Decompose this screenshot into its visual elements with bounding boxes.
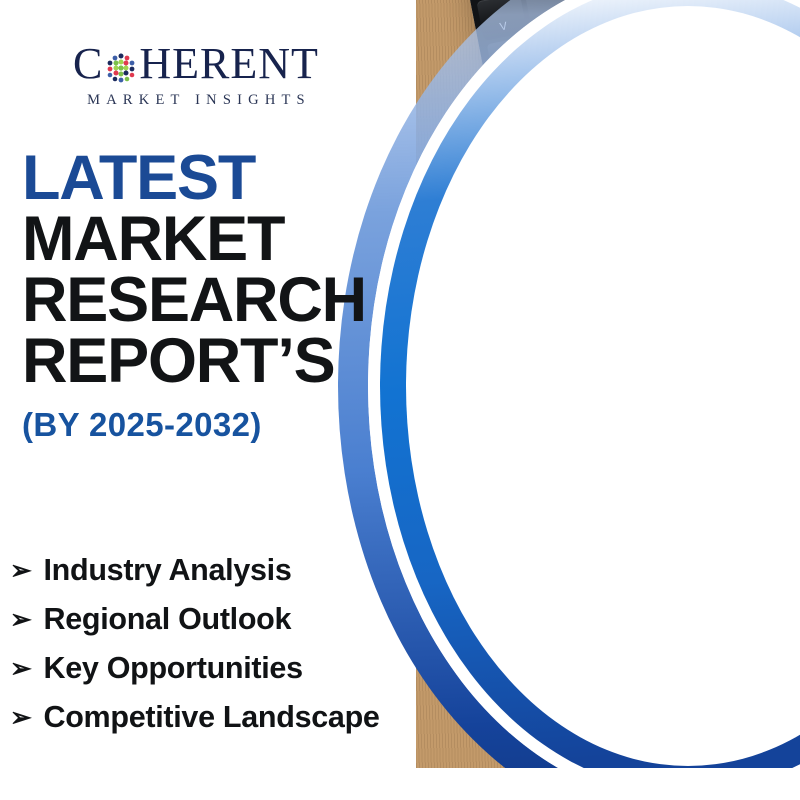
key-b: B	[525, 0, 576, 31]
y-tick-label: 30	[524, 540, 533, 547]
forecast-years: (BY 2025-2032)	[22, 406, 422, 444]
y-tick-label: 90	[506, 462, 515, 469]
bar-segment-cyan	[562, 426, 601, 475]
line-chart-gridline	[598, 664, 800, 731]
bar-segment-yellow	[628, 523, 664, 557]
bullet-item-3: ➢Key Opportunities	[10, 651, 510, 686]
key-command-left: command	[487, 33, 549, 70]
y-tick-label: 50	[518, 514, 527, 521]
logo-tagline: MARKET INSIGHTS	[46, 92, 346, 109]
key-n: N	[573, 0, 624, 22]
logo-letter-c: C	[73, 42, 103, 86]
key-v: V	[476, 0, 527, 41]
bullet-label: Competitive Landscape	[44, 700, 380, 735]
headline-line-1: LATEST	[22, 148, 422, 209]
y-tick-label: 40	[521, 527, 530, 534]
arrow-bullet-icon: ➢	[10, 557, 32, 583]
line-chart-y-tick: 80	[559, 667, 566, 674]
line-chart-y-tick: 70	[562, 681, 569, 688]
key-label: command	[636, 0, 677, 4]
bullet-label: Regional Outlook	[44, 602, 292, 637]
headline-line-4: REPORT’S	[22, 331, 422, 392]
key-command-stack: ⌘ command	[631, 0, 677, 7]
line-chart-y-tick: 100	[553, 639, 563, 647]
bar-segment-red	[779, 434, 800, 486]
y-tick-label: 80	[509, 475, 518, 482]
dotted-sphere-icon	[104, 49, 138, 83]
coherent-logo[interactable]: C	[46, 40, 346, 114]
bullet-item-1: ➢Industry Analysis	[10, 553, 510, 588]
feature-bullet-list: ➢Industry Analysis➢Regional Outlook➢Key …	[10, 553, 510, 749]
y-tick-label: 20	[527, 553, 536, 560]
bullet-item-4: ➢Competitive Landscape	[10, 700, 510, 735]
bar-segment-yellow	[584, 520, 622, 566]
line-chart-y-tick: 40	[572, 722, 579, 729]
y-tick-label: 10	[530, 566, 539, 573]
y-tick-label: 100	[503, 449, 512, 456]
key-label: N	[595, 1, 605, 14]
bullet-label: Industry Analysis	[44, 553, 292, 588]
bar-segment-red	[656, 459, 700, 530]
trackpad	[605, 36, 800, 250]
bar-column: Mar	[614, 462, 666, 566]
bar-segment-yellow	[790, 479, 800, 519]
line-chart-y-tick: 50	[569, 709, 576, 716]
bar-segment-yellow	[704, 480, 745, 538]
logo-wordmark: C	[46, 40, 346, 88]
bullet-label: Key Opportunities	[44, 651, 303, 686]
bottom-white-band	[416, 768, 800, 800]
key-label: B	[547, 11, 557, 24]
line-chart-y-tick: 90	[556, 653, 563, 660]
arrow-bullet-icon: ➢	[10, 704, 32, 730]
y-tick-label: 60	[515, 501, 524, 508]
line-chart-y-tick: 20	[578, 750, 585, 757]
trackpad-notch	[728, 220, 767, 235]
bar-segment-red	[572, 469, 613, 527]
bar-segment-red	[734, 422, 772, 468]
bar-segment-red	[694, 437, 733, 486]
line-chart-y-tick: 30	[575, 736, 582, 743]
arrow-bullet-icon: ➢	[10, 655, 32, 681]
y-tick-label: 70	[512, 488, 521, 495]
poster-canvas: V B N ⌘ command option command	[0, 0, 800, 800]
headline-line-2: MARKET	[22, 209, 422, 270]
line-chart-y-tick: 60	[565, 695, 572, 702]
key-label: command	[501, 49, 537, 65]
bar-segment-cyan	[614, 462, 654, 514]
bullet-item-2: ➢Regional Outlook	[10, 602, 510, 637]
headline-block: LATEST MARKET RESEARCH REPORT’S (BY 2025…	[22, 148, 422, 444]
headline-line-3: RESEARCH	[22, 270, 422, 331]
bar-segment-yellow	[743, 461, 786, 529]
logo-letters-herent: HERENT	[139, 42, 319, 86]
line-chart-gridline	[602, 679, 800, 746]
key-label: V	[499, 20, 509, 33]
arrow-bullet-icon: ➢	[10, 606, 32, 632]
